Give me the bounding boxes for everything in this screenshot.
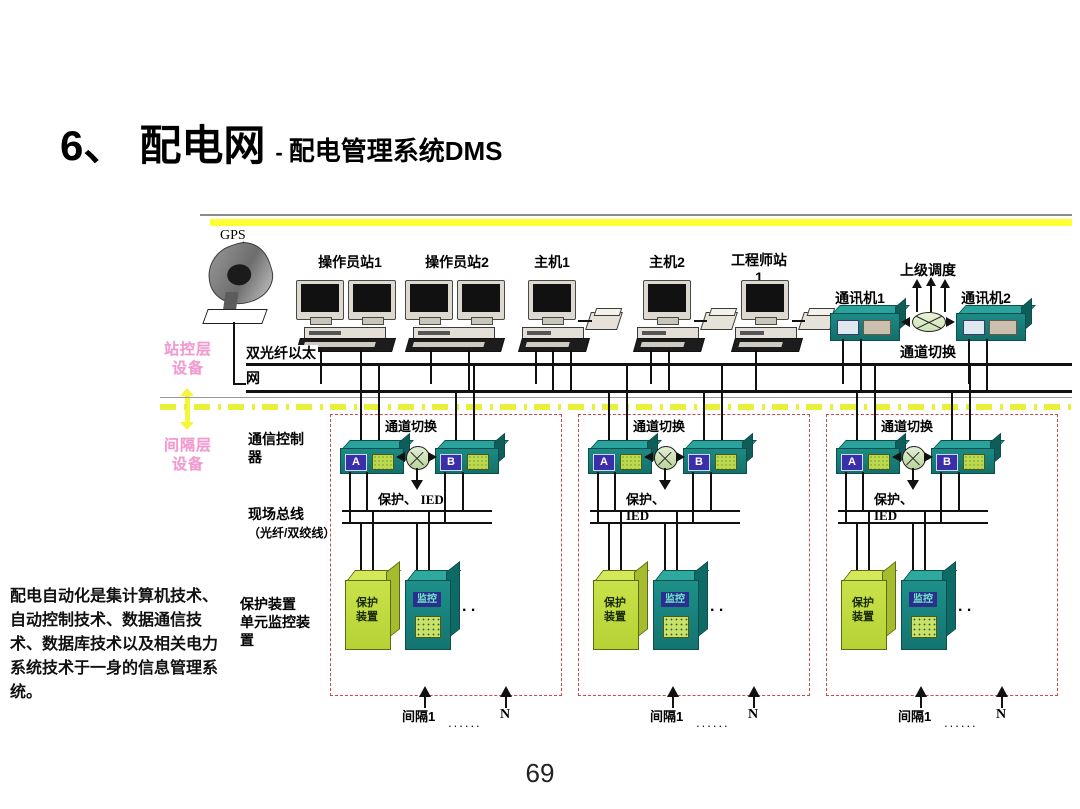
bay1-ctrl-drop [366, 472, 368, 510]
comm-controller-label: 通信控制 器 [248, 430, 304, 466]
bay1-controller-b: B [435, 440, 497, 472]
gps-base [202, 309, 267, 324]
bay1-dots: ...... [448, 715, 482, 730]
bay1-switch-arrow-right [428, 452, 437, 462]
page-title: 6、 配电网 - 配电管理系统DMS [60, 112, 502, 173]
monitor [643, 280, 691, 320]
label-line1: 保护 [604, 597, 626, 609]
workstation-engineer [735, 280, 799, 350]
bay2-first-label: 间隔1 [650, 708, 683, 726]
monitor [528, 280, 576, 320]
monitor [405, 280, 453, 320]
bay3-channel-switch-label: 通道切换 [881, 418, 933, 436]
gps-drop-wire [233, 322, 235, 384]
channel-switch-label-top: 通道切换 [886, 342, 970, 362]
switch-arrow-left [901, 317, 910, 327]
fieldbus-label: 现场总线 （光纤/双绞线） [248, 505, 335, 542]
arrow-down-head [180, 422, 194, 430]
bay1-first-marker-arrow [419, 686, 431, 697]
controller-a-leds [868, 454, 890, 470]
comm-machine-2 [956, 305, 1024, 339]
workstation-op2 [405, 280, 509, 350]
bay2-switch-down-arrow [659, 480, 671, 490]
controller-b-badge: B [688, 454, 710, 471]
bay1-feed-wire [473, 366, 475, 440]
dms-architecture-diagram: GPS 站控层 设备 间隔层 设备 操作员站1 操作员站2 主机1 主机2 工程… [0, 200, 1080, 740]
monitor [741, 280, 789, 320]
host1-drop-wire [535, 350, 537, 384]
engineer-printer-link [792, 320, 805, 322]
bay3-protection-ied-label: 保护、 IED [874, 492, 913, 524]
station-name-op1: 操作员站1 [305, 252, 395, 272]
bay1-ctrl-drop [349, 472, 351, 522]
bay2-bus-to-device [676, 512, 678, 574]
box-front-face [901, 580, 947, 650]
host2-drop-wire [650, 350, 652, 384]
bay3-last-marker-arrow [996, 686, 1008, 697]
bay1-switch-arrow-left [396, 452, 405, 462]
bay3-ctrl-drop [940, 472, 942, 522]
label-line1: 保护 [356, 597, 378, 609]
bay1-monitor-device: 监控 [405, 570, 449, 648]
bay2-ctrl-drop [710, 472, 712, 510]
bay2-controller-b: B [683, 440, 745, 472]
page-number: 69 [0, 758, 1080, 789]
dispatch-uplink-arrow [940, 279, 950, 288]
bay1-feed-wire [360, 392, 362, 440]
bay1-channel-switch-label: 通道切换 [385, 418, 437, 436]
bay2-ctrl-drop [692, 472, 694, 522]
channel-switch-icon-top [912, 312, 946, 332]
label-line2: 装置 [356, 611, 378, 623]
bay2-feed-wire [626, 366, 628, 440]
bay2-fieldbus-a [590, 510, 740, 512]
bay1-more-devices-ellipsis: . . [462, 598, 475, 616]
gps-antenna-icon: GPS [200, 230, 280, 340]
bay3-ctrl-drop [845, 472, 847, 522]
bay1-channel-switch-icon [406, 446, 430, 470]
bay2-channel-switch-icon [654, 446, 678, 470]
protection-unit-label-line3: 置 [240, 632, 254, 648]
bay2-switch-arrow-left [644, 452, 653, 462]
bay-layer-label-line1: 间隔层 [155, 436, 221, 455]
bay3-monitor-leds [911, 616, 937, 638]
station-name-op2: 操作员站2 [412, 252, 502, 272]
layer-divider-dashed [160, 404, 1072, 410]
host1-drop-wire [552, 350, 554, 392]
bay1-first-label: 间隔1 [402, 708, 435, 726]
bay2-dots: ...... [696, 715, 730, 730]
bay1-feed-wire [455, 392, 457, 440]
bay1-bus-to-device [360, 522, 362, 574]
bay2-feed-wire [703, 392, 705, 440]
bay3-feed-wire [969, 366, 971, 440]
station-layer-label-line1: 站控层 [155, 340, 221, 359]
bay1-feed-wire [378, 366, 380, 440]
bay3-first-marker-arrow [915, 686, 927, 697]
comm-machine-1 [830, 305, 898, 339]
bay2-monitor-leds [663, 616, 689, 638]
bay3-ctrl-drop [862, 472, 864, 510]
bay1-monitor-device-label: 监控 [413, 592, 441, 607]
bay2-bus-to-device [664, 522, 666, 574]
controller-a-leds [620, 454, 642, 470]
label-line2: 装置 [852, 611, 874, 623]
bay3-protection-device-label: 保护 装置 [841, 596, 885, 624]
bay2-protection-ied-label: 保护、 IED [626, 492, 665, 524]
protection-unit-label: 保护装置 单元监控装 置 [240, 595, 310, 649]
protection-unit-label-line2: 单元监控装 [240, 614, 310, 630]
bay1-switch-down-arrow [411, 480, 423, 490]
controller-a-badge: A [345, 454, 367, 471]
box-front-face [405, 580, 451, 650]
op1-drop-wire [360, 350, 362, 392]
bay3-dots: ...... [944, 715, 978, 730]
controller-b-leds [715, 454, 737, 470]
bay1-ied-line2: IED [421, 492, 444, 507]
bay1-last-label: N [500, 706, 510, 724]
monitor [348, 280, 396, 320]
bay3-switch-arrow-left [892, 452, 901, 462]
bay3-controller-b: B [931, 440, 993, 472]
comm1-panel [863, 320, 891, 335]
ethernet-bus-a [246, 363, 1072, 366]
bay1-monitor-leds [415, 616, 441, 638]
bay3-monitor-device: 监控 [901, 570, 945, 648]
bay-layer-label-line2: 设备 [155, 455, 221, 474]
box-front-face [653, 580, 699, 650]
layer-divider-gray [160, 397, 1072, 398]
bay2-monitor-device-label: 监控 [661, 592, 689, 607]
title-number: 6、 [60, 112, 125, 173]
op1-drop-wire [320, 350, 322, 384]
host2-drop-wire [668, 350, 670, 392]
engineer-drop-wire [755, 350, 757, 392]
bay2-bus-to-device [608, 522, 610, 574]
bay2-last-label: N [748, 706, 758, 724]
host1-printer-link [578, 320, 592, 322]
bay3-channel-switch-icon [902, 446, 926, 470]
host1-drop-wire [570, 350, 572, 392]
dispatch-uplink-wire [944, 286, 946, 312]
top-gray-rail [200, 214, 1072, 216]
bay2-feed-wire [608, 392, 610, 440]
dispatch-uplink-arrow [926, 277, 936, 286]
monitor [457, 280, 505, 320]
bay3-last-label: N [996, 706, 1006, 724]
bay2-protection-device: 保护 装置 [593, 570, 637, 648]
controller-b-badge: B [936, 454, 958, 471]
switch-arrow-right [946, 317, 955, 327]
bay2-ctrl-drop [597, 472, 599, 522]
bay2-controller-a: A [588, 440, 650, 472]
bay3-protection-device: 保护 装置 [841, 570, 885, 648]
bay-layer-label: 间隔层 设备 [155, 436, 221, 474]
keyboard [731, 338, 803, 352]
bay2-protection-device-label: 保护 装置 [593, 596, 637, 624]
station-layer-label-line2: 设备 [155, 359, 221, 378]
bay1-fieldbus-a [342, 510, 492, 512]
keyboard [405, 338, 505, 352]
bay2-switch-arrow-right [676, 452, 685, 462]
bay3-fieldbus-a [838, 510, 988, 512]
workstation-op1 [296, 280, 400, 350]
bay3-monitor-device-label: 监控 [909, 592, 937, 607]
comm-controller-label-line1: 通信控制 [248, 431, 304, 447]
bay3-bus-to-device [868, 512, 870, 574]
op2-drop-wire [430, 350, 432, 384]
bay2-more-devices-ellipsis: . . [710, 598, 723, 616]
bay1-protection-device-label: 保护 装置 [345, 596, 389, 624]
fieldbus-label-line1: 现场总线 [248, 506, 304, 522]
bay3-first-label: 间隔1 [898, 708, 931, 726]
bay1-bus-to-device [416, 522, 418, 574]
bay3-ied-line1: 保护、 [874, 492, 913, 507]
controller-a-badge: A [593, 454, 615, 471]
comm2-display [963, 320, 985, 335]
gps-dish [200, 236, 279, 313]
ethernet-bus-b [246, 390, 1072, 393]
workstation-host2 [637, 280, 701, 350]
bay3-ctrl-drop [958, 472, 960, 510]
bay3-switch-down-arrow [907, 480, 919, 490]
dispatch-uplink-wire [930, 284, 932, 312]
bay3-switch-arrow-right [924, 452, 933, 462]
bay3-controller-a: A [836, 440, 898, 472]
bay2-first-marker-arrow [667, 686, 679, 697]
label-line1: 保护 [852, 597, 874, 609]
bay1-ied-line1: 保护、 [378, 492, 417, 507]
bay1-last-marker-arrow [500, 686, 512, 697]
title-main: 配电网 [139, 112, 265, 173]
comm-controller-label-line2: 器 [248, 449, 262, 465]
bay2-bus-to-device [620, 512, 622, 574]
bay2-monitor-device: 监控 [653, 570, 697, 648]
station-layer-label: 站控层 设备 [155, 340, 221, 378]
workstation-host1 [522, 280, 586, 350]
bay3-feed-wire [856, 392, 858, 440]
controller-a-badge: A [841, 454, 863, 471]
label-line2: 装置 [604, 611, 626, 623]
station-name-host2: 主机2 [636, 252, 698, 272]
bay1-bus-to-device [428, 512, 430, 574]
station-name-host1: 主机1 [521, 252, 583, 272]
bay3-feed-wire [874, 366, 876, 440]
controller-a-leds [372, 454, 394, 470]
comm1-display [837, 320, 859, 335]
ethernet-bus-label-line2: 网 [246, 370, 260, 386]
gps-bus-connector [233, 383, 247, 385]
top-yellow-rail [210, 219, 1072, 226]
protection-unit-label-line1: 保护装置 [240, 596, 296, 612]
station-name-engineer-line1: 工程师站 [731, 252, 787, 268]
bay2-last-marker-arrow [748, 686, 760, 697]
controller-b-leds [467, 454, 489, 470]
bay1-ctrl-drop [462, 472, 464, 510]
bay2-feed-wire [721, 366, 723, 440]
bay1-protection-ied-label: 保护、 IED [378, 492, 444, 508]
dispatch-uplink-arrow [912, 279, 922, 288]
fieldbus-label-line2: （光纤/双绞线） [248, 526, 335, 540]
bay3-bus-to-device [912, 522, 914, 574]
comm2-panel [989, 320, 1017, 335]
bay1-controller-a: A [340, 440, 402, 472]
bay2-ctrl-drop [614, 472, 616, 510]
monitor [296, 280, 344, 320]
controller-b-leds [963, 454, 985, 470]
bay3-bus-to-device [924, 512, 926, 574]
bay1-protection-device: 保护 装置 [345, 570, 389, 648]
controller-b-badge: B [440, 454, 462, 471]
bay1-ctrl-drop [444, 472, 446, 522]
bay3-feed-wire [951, 392, 953, 440]
ethernet-bus-label-2: 网 [246, 370, 262, 387]
bay2-ied-line1: 保护、 [626, 492, 665, 507]
ethernet-bus-label: 双光纤以太 [246, 345, 318, 362]
op2-drop-wire [468, 350, 470, 392]
comm1-drop-wire [842, 339, 844, 384]
keyboard [518, 338, 590, 352]
dispatch-uplink-wire [916, 286, 918, 312]
bay3-bus-to-device [856, 522, 858, 574]
ethernet-bus-label-line1: 双光纤以太 [246, 345, 316, 361]
bay2-channel-switch-label: 通道切换 [633, 418, 685, 436]
host2-printer-link [694, 320, 707, 322]
slide-root: 6、 配电网 - 配电管理系统DMS 配电自动化是集计算机技术、自动控制技术、数… [0, 0, 1080, 809]
title-dash: - [275, 140, 282, 166]
bay3-more-devices-ellipsis: . . [958, 598, 971, 616]
bay1-bus-to-device [372, 512, 374, 574]
title-subtitle: 配电管理系统DMS [289, 131, 503, 168]
